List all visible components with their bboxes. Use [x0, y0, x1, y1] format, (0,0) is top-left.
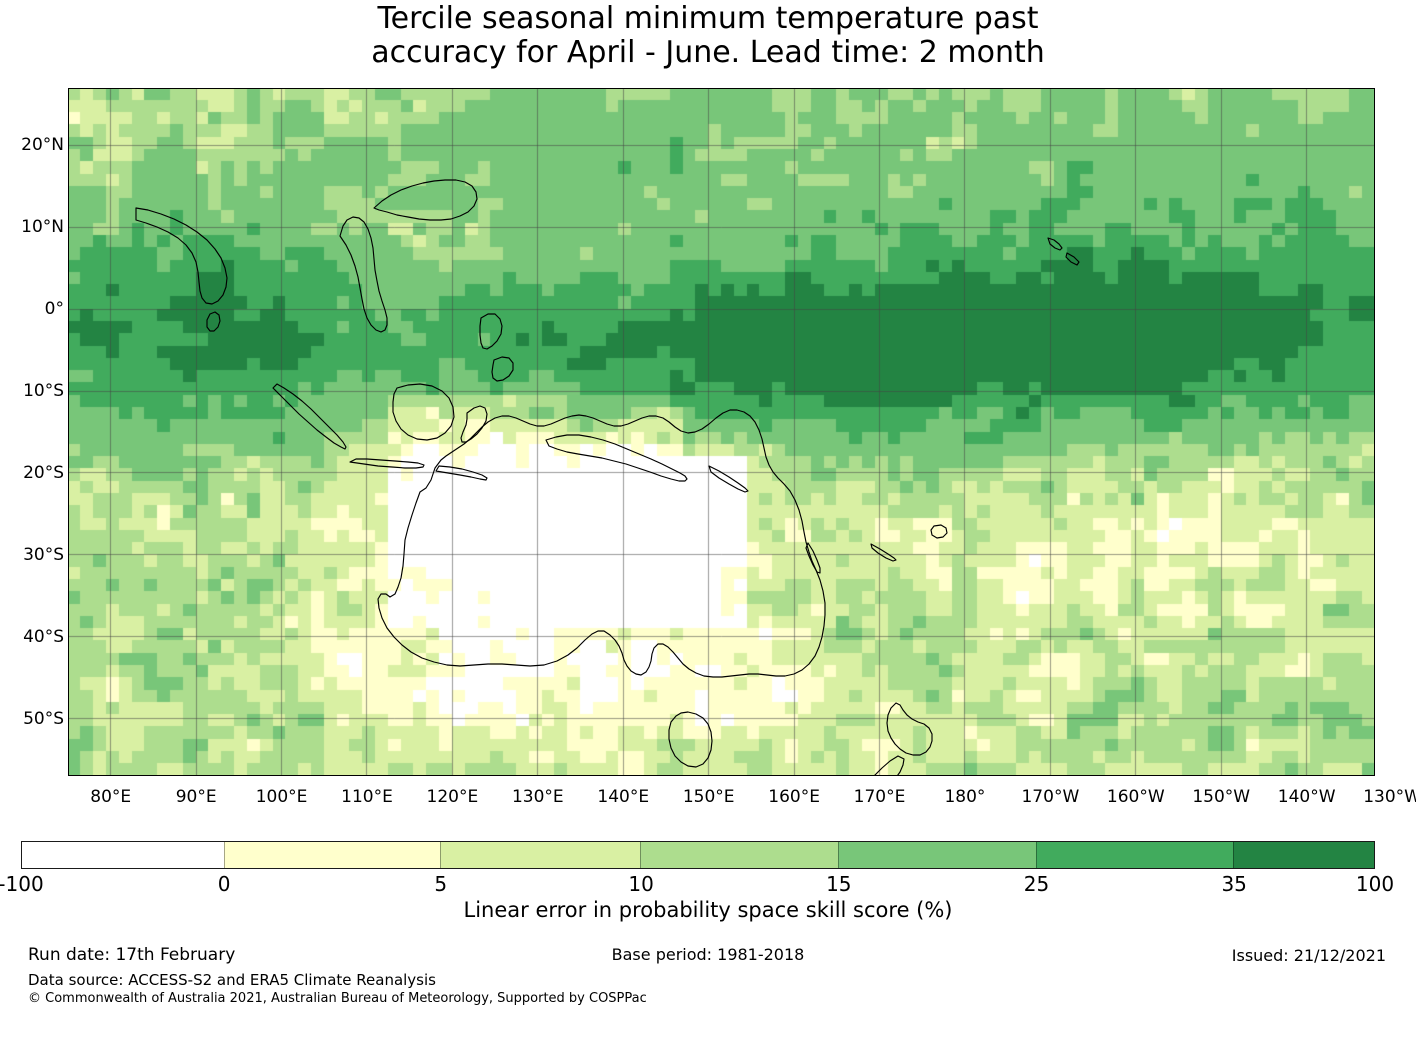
colorbar-tick-label: 0 — [218, 872, 231, 896]
colorbar-segment — [440, 842, 640, 868]
coastline-fiji — [931, 525, 947, 538]
coastline-philippines — [480, 314, 502, 349]
coastline-new-guinea — [546, 435, 687, 481]
coastline-sri-lanka — [207, 312, 220, 331]
colorbar-tick-label: 25 — [1024, 872, 1049, 896]
coastline-new-zealand-north — [887, 703, 932, 755]
latitude-tick-label: 0° — [45, 299, 64, 319]
colorbar-tick-label: 35 — [1221, 872, 1246, 896]
coastline-indochina — [340, 217, 387, 332]
footer-row-primary: Run date: 17th February Base period: 198… — [0, 945, 1416, 969]
coastline-hawaii-2 — [1066, 253, 1079, 265]
coastline-philippines-south — [492, 357, 513, 381]
longitude-tick-label: 160°E — [768, 787, 820, 807]
coastline-east-asia — [374, 180, 477, 220]
coastline-sumatra — [273, 384, 346, 449]
coastline-tasmania — [669, 712, 712, 767]
data-source-text: Data source: ACCESS-S2 and ERA5 Climate … — [28, 971, 436, 989]
longitude-tick-label: 130°E — [512, 787, 564, 807]
footer: Run date: 17th February Base period: 198… — [0, 945, 1416, 1015]
coastline-india — [136, 208, 227, 304]
coastline-australia — [378, 410, 825, 677]
longitude-tick-label: 80°E — [90, 787, 131, 807]
map-plot-area — [68, 88, 1375, 776]
colorbar-tick-label: -100 — [0, 872, 44, 896]
latitude-tick-label: 10°S — [23, 381, 64, 401]
colorbar-segment — [1036, 842, 1234, 868]
colorbar — [21, 841, 1375, 869]
copyright-text: © Commonwealth of Australia 2021, Austra… — [28, 991, 647, 1006]
colorbar-segment — [640, 842, 838, 868]
colorbar-tick-label: 10 — [628, 872, 653, 896]
longitude-tick-label: 170°E — [854, 787, 906, 807]
coastline-solomons — [709, 466, 748, 492]
longitude-tick-label: 150°W — [1192, 787, 1250, 807]
coastline-new-caledonia — [871, 544, 896, 561]
latitude-tick-label: 10°N — [21, 217, 64, 237]
longitude-tick-label: 160°W — [1107, 787, 1165, 807]
colorbar-segment — [224, 842, 440, 868]
latitude-tick-label: 20°N — [21, 135, 64, 155]
longitude-tick-label: 120°E — [427, 787, 479, 807]
colorbar-tick-label: 100 — [1356, 872, 1394, 896]
longitude-tick-label: 90°E — [176, 787, 217, 807]
longitude-tick-label: 180° — [944, 787, 985, 807]
coastline-new-zealand-south — [850, 756, 904, 776]
colorbar-tick-label: 15 — [826, 872, 851, 896]
latitude-tick-label: 50°S — [23, 709, 64, 729]
colorbar-segment — [838, 842, 1036, 868]
longitude-tick-label: 140°W — [1278, 787, 1336, 807]
latitude-tick-label: 20°S — [23, 463, 64, 483]
issued-date-text: Issued: 21/12/2021 — [1232, 946, 1386, 965]
coastline-hawaii — [1048, 238, 1062, 250]
longitude-tick-label: 140°E — [597, 787, 649, 807]
longitude-tick-label: 100°E — [256, 787, 308, 807]
coastline-overlay — [68, 88, 1375, 776]
longitude-tick-label: 170°W — [1021, 787, 1079, 807]
base-period-text: Base period: 1981-2018 — [0, 945, 1416, 964]
latitude-tick-label: 30°S — [23, 545, 64, 565]
colorbar-segment — [1233, 842, 1374, 868]
longitude-tick-label: 110°E — [341, 787, 393, 807]
longitude-tick-label: 150°E — [683, 787, 735, 807]
colorbar-tick-label: 5 — [434, 872, 447, 896]
coastline-lesser-sunda — [436, 466, 487, 480]
page-title: Tercile seasonal minimum temperature pas… — [0, 2, 1416, 70]
colorbar-segment — [22, 842, 224, 868]
coastline-java — [350, 459, 424, 468]
latitude-tick-label: 40°S — [23, 627, 64, 647]
coastline-sulawesi — [461, 406, 487, 442]
coastline-borneo — [393, 384, 454, 440]
colorbar-label: Linear error in probability space skill … — [0, 898, 1416, 922]
longitude-tick-label: 130°W — [1363, 787, 1416, 807]
